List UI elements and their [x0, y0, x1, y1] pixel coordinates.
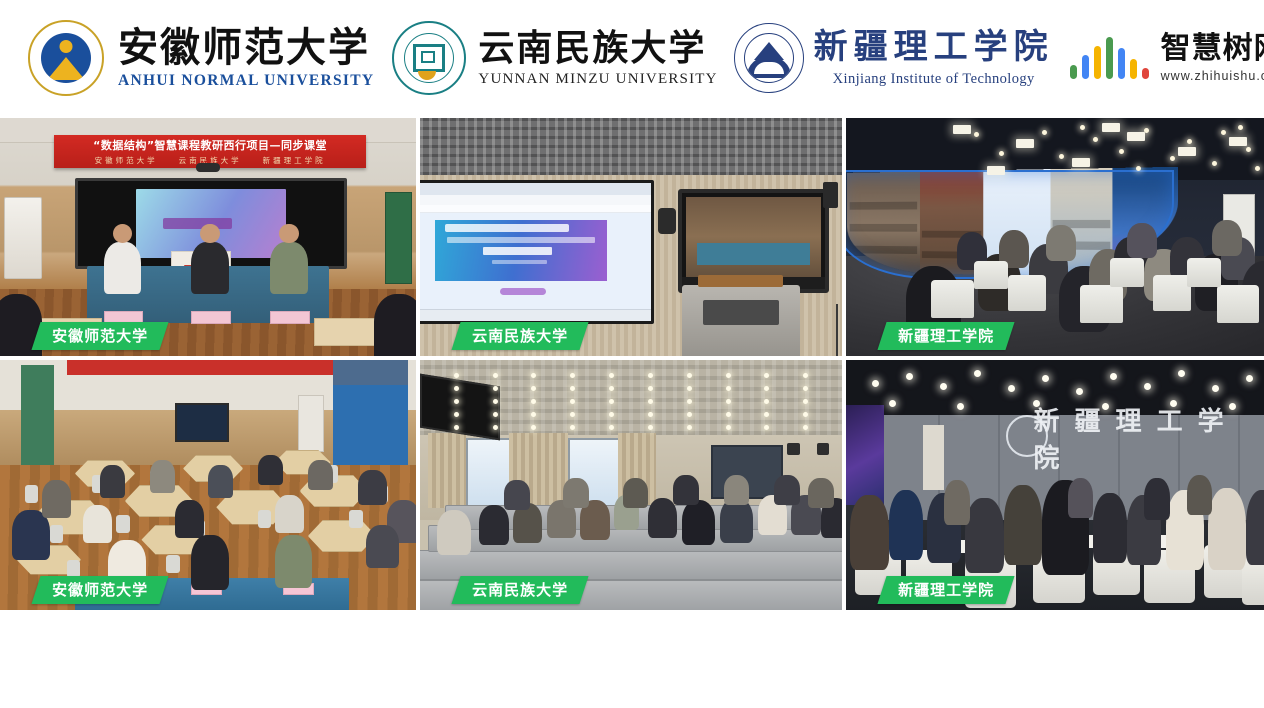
university-logo-bar: 安徽师范大学 ANHUI NORMAL UNIVERSITY 云南民族大学 YU…: [0, 0, 1264, 116]
led-side-wall: [846, 405, 884, 505]
student: [504, 480, 529, 510]
ceiling-light: [1110, 373, 1117, 380]
ceiling-light: [764, 412, 769, 417]
attendee: [1068, 478, 1094, 518]
ceiling-light: [906, 373, 913, 380]
zhihuishu-bar: [1070, 65, 1077, 79]
ceiling-light: [803, 425, 808, 430]
ceiling-light: [889, 400, 896, 407]
ceiling-light: [531, 412, 536, 417]
classroom-person: [175, 500, 204, 538]
ceiling-light: [493, 373, 498, 378]
ceiling-light: [609, 373, 614, 378]
ceiling-light: [454, 399, 459, 404]
green-column: [21, 365, 54, 470]
classroom-seat: [25, 485, 38, 503]
photo-caption-badge: 云南民族大学: [451, 576, 588, 604]
logo-zhihuishu: 智慧树网 www.zhihuishu.com: [1070, 0, 1264, 116]
anhui-normal-university-en-name: ANHUI NORMAL UNIVERSITY: [118, 73, 374, 89]
lecture-seat: [1008, 275, 1046, 311]
ceiling-light: [764, 399, 769, 404]
photo-yunnan-lecture-room: 云南民族大学: [420, 360, 842, 610]
classroom-seat: [258, 510, 271, 528]
student: [673, 475, 698, 505]
ceiling-light: [803, 412, 808, 417]
air-conditioner: [298, 395, 325, 452]
attendee: [1093, 493, 1127, 563]
ceiling-light: [1059, 154, 1064, 159]
ceiling-light: [764, 425, 769, 430]
ceiling-light: [493, 399, 498, 404]
ceiling-light: [648, 373, 653, 378]
classroom-seat: [116, 515, 129, 533]
logo-xinjiang-institute-of-technology: 新疆理工学院 Xinjiang Institute of Technology: [734, 0, 1054, 116]
attendee: [965, 498, 1003, 573]
remote-video-display: [333, 360, 408, 385]
classroom-person: [258, 455, 283, 485]
zhihuishu-bar: [1094, 46, 1101, 79]
ceiling-light: [648, 386, 653, 391]
lecture-seat: [931, 280, 974, 318]
logo-anhui-normal-university: 安徽师范大学 ANHUI NORMAL UNIVERSITY: [28, 0, 374, 116]
ceiling-light: [609, 399, 614, 404]
course-slide: [435, 220, 607, 281]
ceiling-light: [454, 373, 459, 378]
ceiling-light: [648, 425, 653, 430]
mic-stand: [836, 304, 838, 356]
lecture-seat: [974, 261, 1008, 290]
ceiling-light: [803, 373, 808, 378]
ceiling-light: [531, 399, 536, 404]
zhihuishu-cn-name: 智慧树网: [1161, 34, 1264, 64]
classroom-seat: [349, 510, 362, 528]
logo-yunnan-minzu-university: 云南民族大学 YUNNAN MINZU UNIVERSITY: [392, 0, 717, 116]
classroom-person: [275, 495, 304, 533]
ceiling-light: [1255, 166, 1260, 171]
zhihuishu-bar: [1082, 55, 1089, 79]
yunnan-minzu-university-seal-icon: [392, 21, 466, 95]
classroom-person: [208, 465, 233, 498]
classroom-person: [275, 535, 312, 588]
ceiling-light-panel: [1102, 123, 1120, 132]
ceiling-light: [1076, 388, 1083, 395]
ceiling-light: [493, 386, 498, 391]
wall-speaker: [823, 182, 838, 208]
xinjiang-institute-of-technology-cn-name: 新疆理工学院: [814, 30, 1054, 64]
ceiling-light-panel: [1072, 158, 1090, 167]
panelist: [270, 242, 307, 294]
ceiling-light-panel: [987, 166, 1005, 175]
ceiling-light: [609, 425, 614, 430]
ceiling-camera-icon: [196, 163, 220, 172]
classroom-seat: [50, 525, 63, 543]
audience-member: [1212, 220, 1242, 256]
video-camera-icon: [658, 208, 676, 234]
ceiling-light: [1042, 375, 1049, 382]
classroom-person: [191, 535, 228, 590]
ceiling-light: [726, 399, 731, 404]
ceiling-light: [1136, 166, 1141, 171]
student: [437, 510, 471, 555]
ceiling-light: [531, 386, 536, 391]
ceiling-light: [687, 412, 692, 417]
wall-school-name: 新 疆 理 工 学 院: [1033, 420, 1263, 455]
photo-gallery-grid: “数据结构”智慧课程教研西行项目—同步课堂 安徽师范大学 云南民族大学 新疆理工…: [0, 118, 1264, 610]
classroom-person: [42, 480, 71, 518]
lecture-seat: [1153, 275, 1191, 311]
ceiling-light: [570, 425, 575, 430]
ceiling-light: [493, 412, 498, 417]
room-door: [385, 192, 412, 284]
student: [563, 478, 588, 508]
lecture-seat: [1187, 258, 1221, 287]
interactive-whiteboard: [420, 180, 654, 324]
ceiling-light: [1008, 385, 1015, 392]
ceiling-light: [1119, 149, 1124, 154]
classroom-monitor: [175, 403, 229, 442]
ceiling-light-panel: [953, 125, 971, 134]
ceiling-light: [609, 412, 614, 417]
classroom-person: [366, 525, 399, 568]
ceiling-light: [531, 373, 536, 378]
student: [479, 505, 509, 545]
photo-caption-badge: 安徽师范大学: [31, 576, 168, 604]
photo-anhui-opening-ceremony: “数据结构”智慧课程教研西行项目—同步课堂 安徽师范大学 云南民族大学 新疆理工…: [0, 118, 416, 356]
student: [724, 475, 749, 505]
attendee: [1246, 490, 1264, 565]
attendee: [1004, 485, 1042, 565]
ceiling-light: [1042, 130, 1047, 135]
ceiling-light-panel: [1016, 139, 1034, 148]
ceiling-light: [726, 412, 731, 417]
photo-anhui-hex-desk-classroom: 安徽师范大学: [0, 360, 416, 610]
lecture-seat: [1110, 258, 1144, 287]
attendee: [944, 480, 970, 525]
zhihuishu-equalizer-icon: [1070, 37, 1149, 79]
ceiling-light: [1102, 403, 1109, 410]
ceiling-light: [1144, 383, 1151, 390]
attendee: [1187, 475, 1213, 515]
ceiling-light: [493, 425, 498, 430]
student: [623, 478, 648, 508]
photo-caption-badge: 云南民族大学: [451, 322, 588, 350]
attendee: [1144, 478, 1170, 521]
ceiling-light: [531, 425, 536, 430]
photo-caption-badge: 新疆理工学院: [877, 576, 1014, 604]
ceiling-light: [454, 386, 459, 391]
name-card: [270, 311, 309, 324]
ceiling-light: [570, 399, 575, 404]
ceiling-light: [454, 412, 459, 417]
classroom-seat: [166, 555, 179, 573]
student: [682, 500, 716, 545]
ceiling-light: [648, 399, 653, 404]
ceiling-light: [872, 380, 879, 387]
ceiling-light: [764, 373, 769, 378]
classroom-person: [308, 460, 333, 490]
wall-speaker: [787, 443, 800, 456]
ceiling-light: [764, 386, 769, 391]
classroom-person: [358, 470, 387, 505]
teaching-console: [682, 285, 800, 356]
name-card: [191, 311, 230, 324]
anhui-normal-university-seal-icon: [28, 20, 104, 96]
photo-xinjiang-curved-screen-hall: 新疆理工学院: [846, 118, 1264, 356]
ceiling-light-panel: [1127, 132, 1145, 141]
classroom-person: [12, 510, 49, 560]
ceiling-light: [1170, 156, 1175, 161]
attendee: [889, 490, 923, 560]
ceiling-light: [687, 386, 692, 391]
ceiling-light: [726, 373, 731, 378]
anhui-normal-university-cn-name: 安徽师范大学: [118, 28, 374, 68]
ceiling-light: [1229, 403, 1236, 410]
xinjiang-institute-of-technology-en-name: Xinjiang Institute of Technology: [814, 72, 1054, 87]
ceiling-light: [726, 425, 731, 430]
attendee: [850, 495, 888, 570]
audience-member: [1046, 225, 1076, 261]
ceiling-light: [1170, 400, 1177, 407]
classroom-seat: [67, 560, 80, 578]
attendee: [1208, 488, 1246, 571]
ceiling-light: [803, 386, 808, 391]
zhihuishu-bar: [1130, 59, 1137, 79]
blue-curtain: [333, 370, 408, 470]
student: [808, 478, 833, 508]
ceiling-light: [940, 383, 947, 390]
ceiling-light: [687, 373, 692, 378]
zhihuishu-bar: [1118, 48, 1125, 79]
ceiling-light: [974, 370, 981, 377]
ceiling-light: [687, 425, 692, 430]
hall-door: [923, 425, 944, 490]
lecture-seat: [1080, 285, 1123, 323]
zhihuishu-bar: [1106, 37, 1113, 79]
yunnan-minzu-university-en-name: YUNNAN MINZU UNIVERSITY: [478, 72, 717, 87]
audience-member: [1127, 223, 1157, 259]
ceiling-light: [726, 386, 731, 391]
panelist: [191, 242, 228, 294]
ceiling-light-panel: [1178, 147, 1196, 156]
panelist: [104, 242, 141, 294]
zhihuishu-website-url: www.zhihuishu.com: [1161, 70, 1264, 83]
audience-member: [374, 294, 416, 356]
zhihuishu-bar: [1142, 68, 1149, 79]
event-banner: [67, 360, 375, 375]
classroom-person: [100, 465, 125, 498]
ceiling-light: [609, 386, 614, 391]
ceiling-light: [454, 425, 459, 430]
event-banner-title: “数据结构”智慧课程教研西行项目—同步课堂: [93, 137, 327, 153]
ceiling-light-panel: [1229, 137, 1247, 146]
photo-caption-badge: 安徽师范大学: [31, 322, 168, 350]
lecture-seat: [1217, 285, 1260, 323]
classroom-person: [83, 505, 112, 543]
ceiling-light: [570, 373, 575, 378]
classroom-person: [150, 460, 175, 493]
ceiling-light: [957, 403, 964, 410]
xinjiang-institute-of-technology-seal-icon: [734, 23, 804, 93]
photo-caption-badge: 新疆理工学院: [877, 322, 1014, 350]
yunnan-minzu-university-cn-name: 云南民族大学: [478, 30, 717, 66]
ceiling-light: [570, 386, 575, 391]
photo-xinjiang-auditorium: 新 疆 理 工 学 院 新疆理工学院: [846, 360, 1264, 610]
student: [774, 475, 799, 505]
ceiling-light: [648, 412, 653, 417]
student: [648, 498, 678, 538]
wall-speaker: [817, 443, 830, 456]
photo-yunnan-smart-classroom: 云南民族大学: [420, 118, 842, 356]
ceiling-light: [803, 399, 808, 404]
ceiling-light: [687, 399, 692, 404]
ceiling-light: [570, 412, 575, 417]
air-conditioner: [4, 197, 41, 280]
ceiling-light: [1221, 130, 1226, 135]
